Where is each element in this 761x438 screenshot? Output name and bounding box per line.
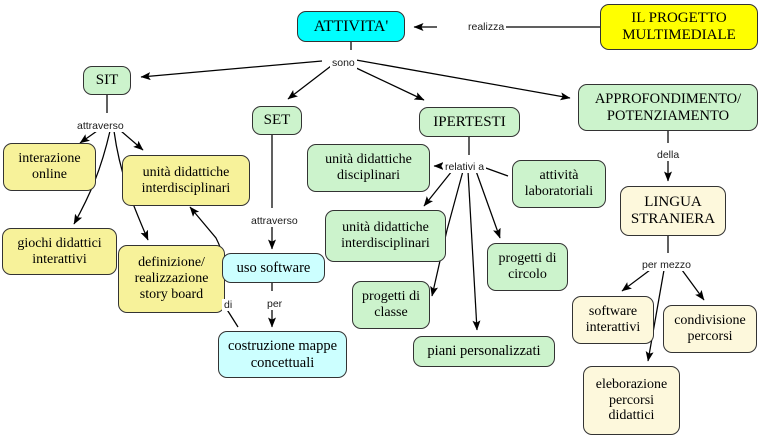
node-label: unità didattiche interdisciplinari [123, 165, 249, 196]
node-label: unità didattiche disciplinari [308, 152, 429, 183]
edge-relativia-progcircolo [476, 171, 500, 238]
node-udd[interactable]: unità didattiche disciplinari [307, 144, 430, 192]
edge-label-realizza: realizza [466, 21, 506, 33]
node-label: progetti di classe [353, 289, 429, 320]
edge-label-della: della [655, 149, 681, 161]
node-label: APPROFONDIMENTO/ POTENZIAMENTO [579, 91, 757, 123]
node-storyboard[interactable]: definizione/ realizzazione story board [118, 245, 225, 313]
node-label: attività laboratoriali [513, 168, 605, 199]
node-label: progetti di circolo [488, 251, 567, 282]
edge-label-per: per [265, 298, 284, 310]
node-set[interactable]: SET [252, 106, 302, 135]
edge-label-attraverso2: attraverso [249, 215, 300, 227]
node-uso_software[interactable]: uso software [222, 253, 325, 283]
node-label: costruzione mappe concettuali [219, 338, 346, 370]
node-condivisione[interactable]: condivisione percorsi [663, 305, 757, 353]
node-piani[interactable]: piani personalizzati [413, 336, 555, 367]
node-giochi[interactable]: giochi didattici interattivi [2, 228, 117, 275]
edge-relativia-attivitalab [483, 167, 508, 176]
node-label: condivisione percorsi [664, 313, 756, 344]
node-prog_classe[interactable]: progetti di classe [352, 281, 430, 329]
edge-label-sono: sono [330, 57, 357, 69]
node-sw_interatt[interactable]: software interattivi [572, 296, 654, 344]
node-udi_left[interactable]: unità didattiche interdisciplinari [122, 155, 250, 206]
node-lingua[interactable]: LINGUA STRANIERA [620, 186, 726, 236]
node-elaborazione[interactable]: eleborazione percorsi didattici [583, 366, 680, 435]
node-label: eleborazione percorsi didattici [584, 377, 679, 424]
node-label: giochi didattici interattivi [3, 236, 116, 267]
node-attivita_lab[interactable]: attività laboratoriali [512, 160, 606, 208]
edge-label-per_mezzo: per mezzo [640, 259, 693, 271]
edge-attraverso-udileft [121, 131, 143, 150]
edge-label-relativi_a: relativi a [443, 161, 486, 173]
edge-sono-approf [356, 60, 570, 98]
edge-label-di: di [222, 299, 234, 311]
concept-map-canvas: IL PROGETTO MULTIMEDIALEATTIVITA'SITSETI… [0, 0, 761, 438]
edge-attraverso-interazione [80, 131, 97, 143]
node-attivita[interactable]: ATTIVITA' [297, 11, 405, 42]
edge-label-attraverso1: attraverso [75, 120, 126, 132]
node-label: SIT [92, 72, 123, 89]
node-mappe[interactable]: costruzione mappe concettuali [218, 331, 347, 378]
node-label: definizione/ realizzazione story board [119, 255, 224, 302]
edge-permezzo-swinteratt [622, 270, 650, 291]
node-ipertesti[interactable]: IPERTESTI [419, 107, 520, 137]
node-label: software interattivi [573, 304, 653, 335]
node-label: uso software [233, 260, 315, 276]
edge-sono-set [288, 66, 331, 99]
edge-sono-ipertesti [352, 66, 424, 100]
edge-relativia-piani [468, 171, 477, 330]
node-approf[interactable]: APPROFONDIMENTO/ POTENZIAMENTO [578, 84, 758, 131]
edge-permezzo-condivisione [682, 270, 704, 300]
node-udi_center[interactable]: unità didattiche interdisciplinari [325, 210, 446, 262]
edge-sono-sit [141, 61, 322, 77]
node-label: LINGUA STRANIERA [621, 194, 725, 228]
node-interazione[interactable]: interazione online [3, 143, 96, 191]
node-prog_circolo[interactable]: progetti di circolo [487, 243, 568, 291]
node-label: ATTIVITA' [310, 18, 392, 36]
node-label: IPERTESTI [429, 114, 509, 131]
node-label: interazione online [4, 151, 95, 182]
node-sit[interactable]: SIT [83, 66, 131, 95]
node-label: SET [260, 112, 295, 129]
node-label: unità didattiche interdisciplinari [326, 220, 445, 251]
node-label: piani personalizzati [423, 343, 544, 359]
node-progetto[interactable]: IL PROGETTO MULTIMEDIALE [600, 4, 758, 50]
node-label: IL PROGETTO MULTIMEDIALE [601, 10, 757, 44]
